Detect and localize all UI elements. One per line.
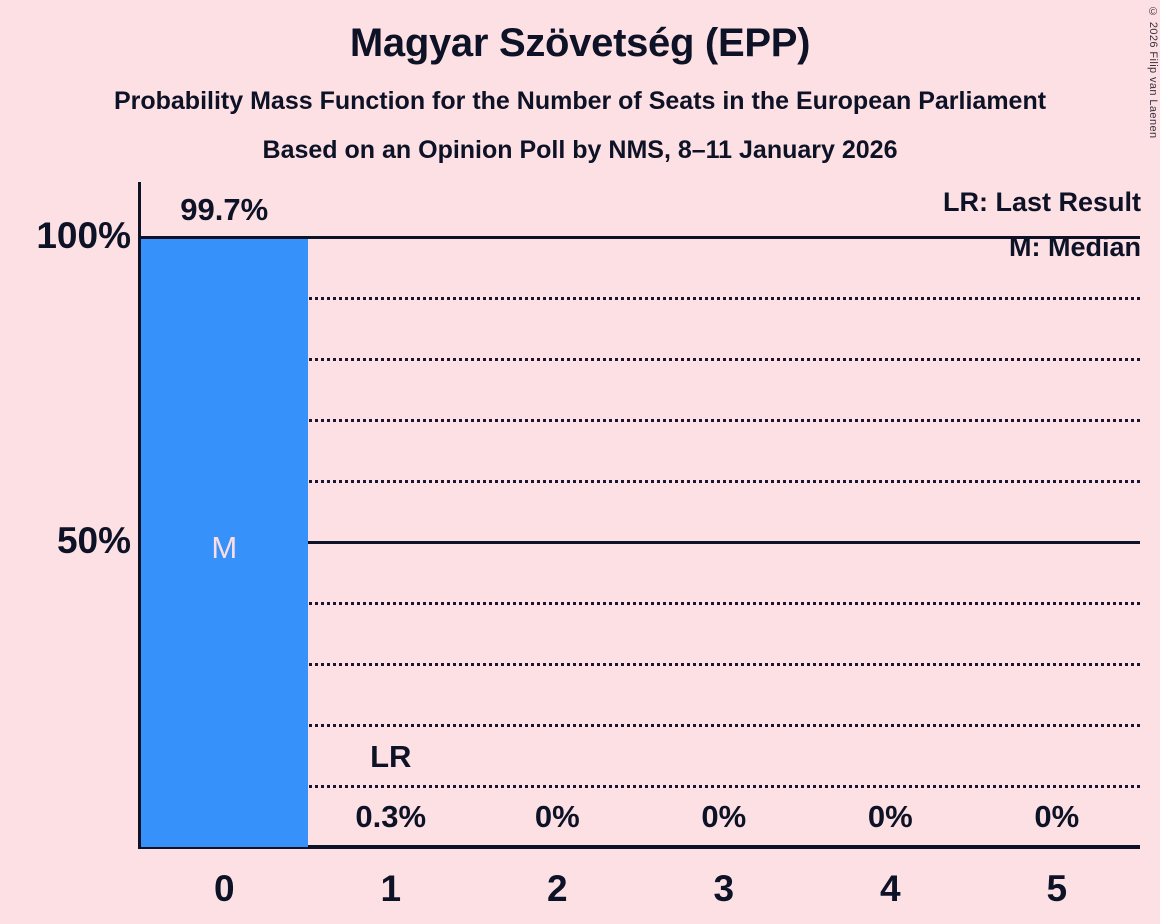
chart-title: Magyar Szövetség (EPP) (0, 22, 1160, 64)
median-marker: M (141, 532, 308, 563)
x-tick-label-5: 5 (974, 870, 1141, 907)
value-label-seats-5: 0% (974, 801, 1141, 832)
copyright-notice: © 2026 Filip van Laenen (1147, 6, 1159, 139)
chart-canvas: Magyar Szövetség (EPP) Probability Mass … (0, 0, 1160, 924)
x-tick-label-3: 3 (641, 870, 808, 907)
chart-subtitle: Probability Mass Function for the Number… (0, 88, 1160, 114)
x-tick-label-4: 4 (807, 870, 974, 907)
legend-item-median: M: Median (1009, 234, 1141, 261)
value-label-seats-1: 0.3% (308, 801, 475, 832)
x-tick-label-2: 2 (474, 870, 641, 907)
value-label-seats-0: 99.7% (141, 194, 308, 225)
value-label-seats-3: 0% (641, 801, 808, 832)
y-tick-label-100pct: 100% (36, 217, 131, 254)
value-label-seats-4: 0% (807, 801, 974, 832)
y-tick-label-50pct: 50% (57, 522, 131, 559)
chart-subsubtitle: Based on an Opinion Poll by NMS, 8–11 Ja… (0, 137, 1160, 163)
last-result-marker: LR (308, 741, 475, 772)
legend-item-last-result: LR: Last Result (943, 189, 1141, 216)
x-tick-label-1: 1 (308, 870, 475, 907)
x-tick-label-0: 0 (141, 870, 308, 907)
value-label-seats-2: 0% (474, 801, 641, 832)
